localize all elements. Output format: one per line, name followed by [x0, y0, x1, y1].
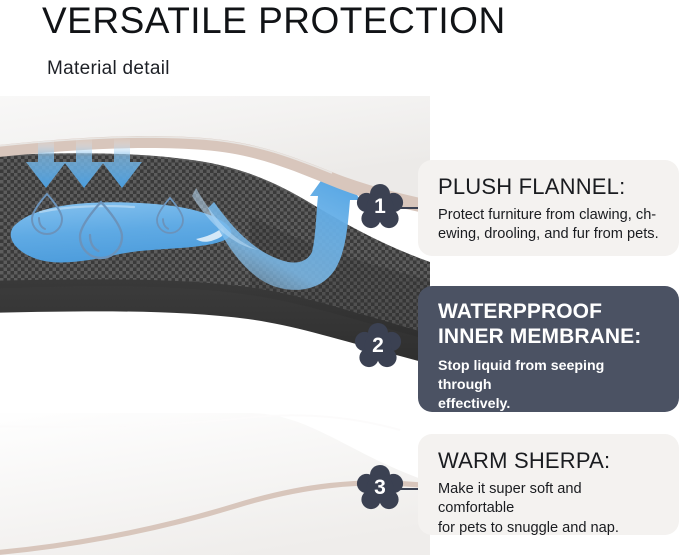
callout-3-body: Make it super soft and comfortable for p… [438, 474, 661, 539]
badge-1-number: 1 [357, 184, 403, 230]
badge-2-number: 2 [355, 323, 401, 369]
down-arrow-group [26, 138, 142, 188]
callout-2-title: WATERPPROOF INNER MEMBRANE: [438, 300, 661, 350]
page-title: VERSATILE PROTECTION [42, 0, 679, 41]
page-subtitle: Material detail [42, 41, 679, 80]
callout-1-body: Protect furniture from clawing, ch- ewin… [438, 200, 661, 245]
callout-plush-flannel[interactable]: PLUSH FLANNEL: Protect furniture from cl… [418, 160, 679, 256]
infographic-page: VERSATILE PROTECTION Material detail [0, 0, 679, 555]
badge-2[interactable]: 2 [355, 323, 401, 369]
callout-1-title: PLUSH FLANNEL: [438, 174, 661, 200]
callout-2-body: Stop liquid from seeping through effecti… [438, 350, 661, 414]
callout-3-title: WARM SHERPA: [438, 448, 661, 474]
callout-waterproof-inner-membrane[interactable]: WATERPPROOF INNER MEMBRANE: Stop liquid … [418, 286, 679, 412]
badge-1[interactable]: 1 [357, 184, 403, 230]
badge-3-number: 3 [357, 465, 403, 511]
header: VERSATILE PROTECTION Material detail [0, 0, 679, 80]
badge-3[interactable]: 3 [357, 465, 403, 511]
callout-warm-sherpa[interactable]: WARM SHERPA: Make it super soft and comf… [418, 434, 679, 535]
